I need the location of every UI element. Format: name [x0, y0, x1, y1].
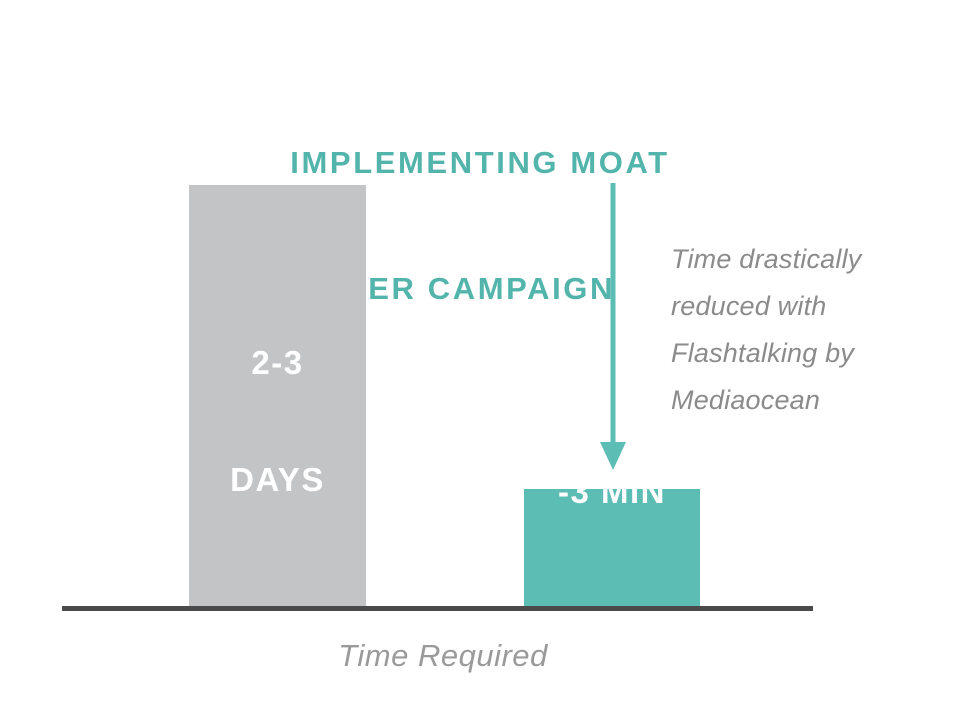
bar-gray-label: 2-3 DAYS — [189, 265, 366, 577]
bar-teal-flashtalking: 30 SEC -3 MIN — [524, 489, 700, 609]
bar-gray-label-line-1: 2-3 — [189, 343, 366, 382]
title-line-1: IMPLEMENTING MOAT — [0, 142, 960, 184]
bar-gray-label-line-2: DAYS — [189, 460, 366, 499]
annotation-line-4: Mediaocean — [671, 377, 933, 424]
annotation-text: Time drastically reduced with Flashtalki… — [671, 236, 933, 424]
annotation-line-1: Time drastically — [671, 236, 933, 283]
down-arrow-icon — [596, 183, 630, 473]
bar-gray-manual: 2-3 DAYS — [189, 185, 366, 609]
bar-teal-label-line-2: -3 MIN — [524, 472, 700, 511]
annotation-line-3: Flashtalking by — [671, 330, 933, 377]
x-axis-label: Time Required — [243, 638, 643, 674]
chart-canvas: IMPLEMENTING MOAT PER CAMPAIGN 2-3 DAYS … — [0, 0, 960, 717]
annotation-line-2: reduced with — [671, 283, 933, 330]
axis-baseline — [62, 606, 813, 611]
